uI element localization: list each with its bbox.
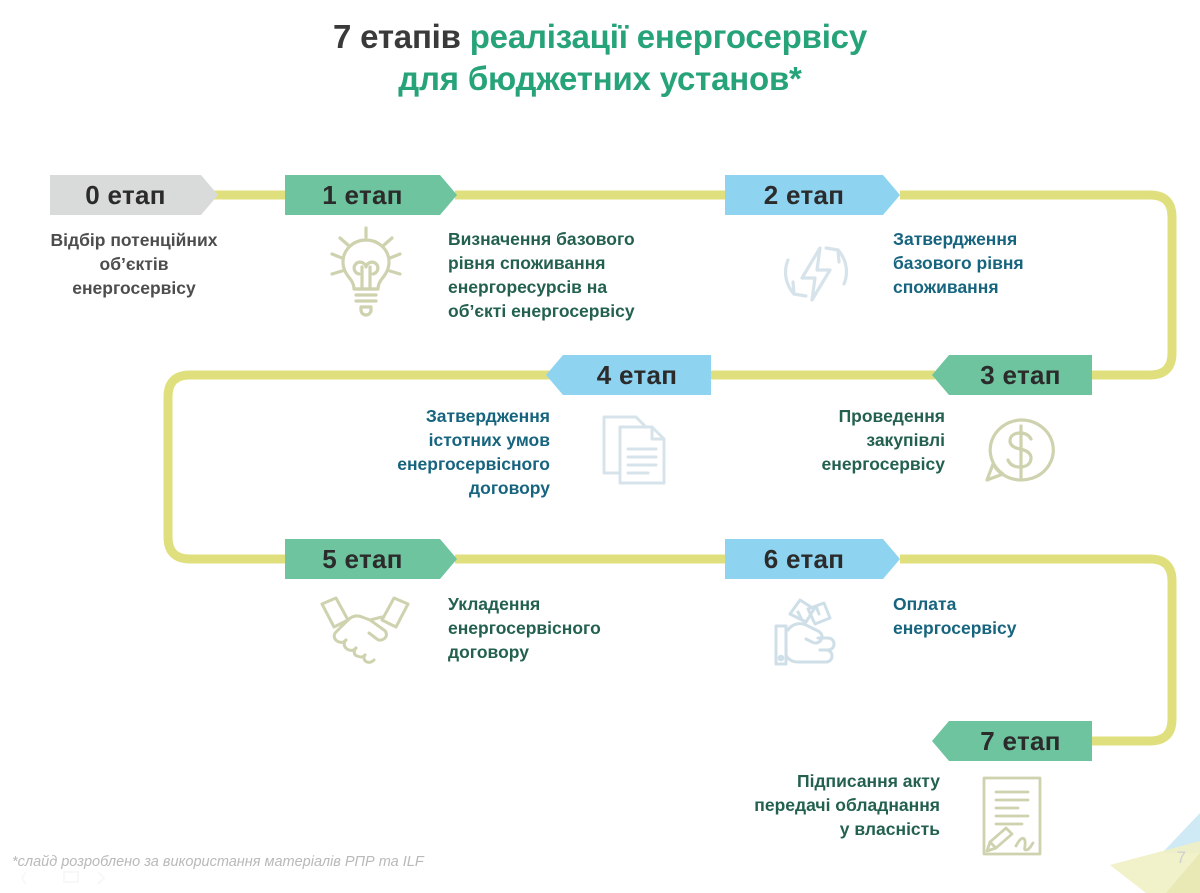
step-6-banner[interactable]: 6 етап	[725, 539, 900, 579]
step-1-text: Визначення базового рівня споживання ене…	[448, 227, 698, 324]
step-6-text: Оплата енергосервісу	[893, 592, 1143, 640]
step-4-banner[interactable]: 4 етап	[546, 355, 711, 395]
step-4-text: Затвердження істотних умов енергосервісн…	[350, 404, 550, 501]
step-3-banner[interactable]: 3 етап	[932, 355, 1092, 395]
step-2-banner[interactable]: 2 етап	[725, 175, 900, 215]
step-6-banner-label: 6 етап	[764, 544, 845, 575]
footer-note: *слайд розроблено за використання матері…	[12, 854, 424, 870]
dollar-bubble-icon	[975, 406, 1067, 498]
step-5-banner[interactable]: 5 етап	[285, 539, 457, 579]
step-2-text: Затвердження базового рівня споживання	[893, 227, 1143, 299]
step-0-banner-label: 0 етап	[85, 180, 166, 211]
step-7-banner-label: 7 етап	[980, 726, 1061, 757]
page-title: 7 етапів реалізації енергосервісу для бю…	[0, 16, 1200, 100]
step-2-banner-label: 2 етап	[764, 180, 845, 211]
documents-icon	[590, 405, 680, 495]
title-line-1: 7 етапів реалізації енергосервісу	[0, 16, 1200, 58]
step-3-banner-label: 3 етап	[980, 360, 1061, 391]
lightbulb-icon	[318, 222, 414, 318]
step-1-banner-label: 1 етап	[322, 180, 403, 211]
step-5-banner-label: 5 етап	[322, 544, 403, 575]
step-7-text: Підписання акту передачі обладнання у вл…	[690, 769, 940, 841]
step-5-text: Укладення енергосервісного договору	[448, 592, 698, 664]
title-line-1-green: реалізації енергосервісу	[470, 18, 867, 55]
step-7-banner[interactable]: 7 етап	[932, 721, 1092, 761]
corner-triangle-yellow	[1110, 841, 1200, 893]
step-3-text: Проведення закупівлі енергосервісу	[730, 404, 945, 476]
step-0-banner[interactable]: 0 етап	[50, 175, 218, 215]
page-number: 7	[1177, 848, 1186, 868]
money-hand-icon	[768, 586, 854, 672]
step-1-banner[interactable]: 1 етап	[285, 175, 457, 215]
step-4-banner-label: 4 етап	[597, 360, 678, 391]
handshake-icon	[316, 588, 414, 666]
step-0-text: Відбір потенційних об’єктів енергосервіс…	[14, 228, 254, 300]
signed-document-icon	[970, 770, 1054, 862]
corner-triangle-blue	[1162, 813, 1200, 853]
title-line-2: для бюджетних установ*	[0, 58, 1200, 100]
connector-6-7	[900, 559, 1172, 741]
energy-cycle-icon	[768, 224, 864, 320]
title-line-1-dark: 7 етапів	[333, 18, 470, 55]
